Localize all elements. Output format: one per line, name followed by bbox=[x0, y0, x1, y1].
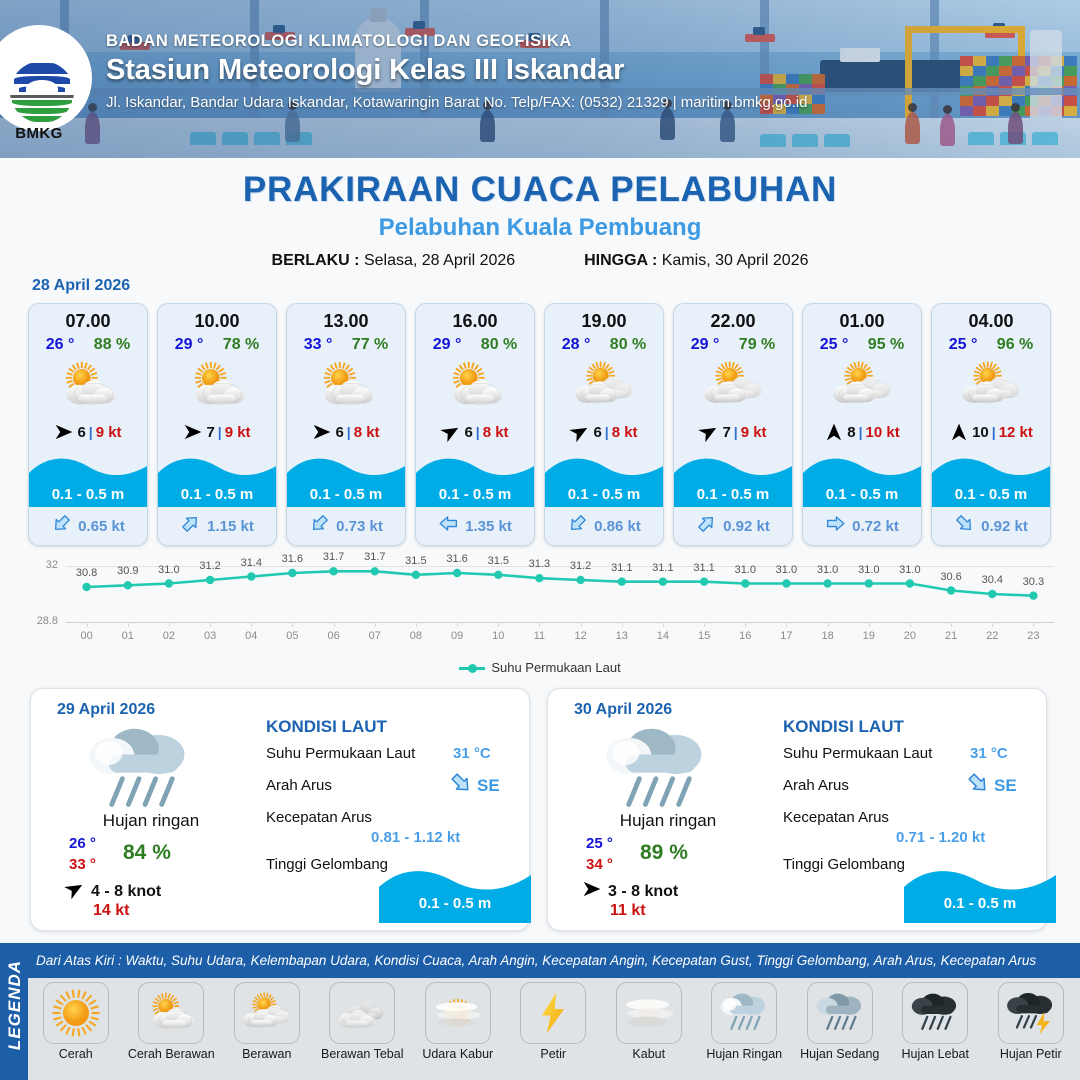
cerah-berawan-icon bbox=[29, 357, 147, 415]
wind-direction-arrow-icon bbox=[824, 422, 844, 442]
card-time: 16.00 bbox=[416, 311, 534, 332]
berawan-icon bbox=[932, 357, 1050, 415]
card-temperature: 28 ° bbox=[562, 336, 591, 354]
hourly-card: 22.00 29 ° 79 % 7 | 9 kt bbox=[673, 303, 793, 546]
current-direction-arrow-icon bbox=[954, 513, 975, 539]
hujan-sedang-icon bbox=[807, 982, 873, 1044]
chart-point-label: 31.1 bbox=[646, 562, 680, 574]
chart-xtick: 14 bbox=[650, 630, 676, 642]
legend-note: Dari Atas Kiri : Waktu, Suhu Udara, Kele… bbox=[36, 953, 1076, 968]
chart-xtick: 05 bbox=[279, 630, 305, 642]
wind-direction-arrow-icon bbox=[582, 879, 602, 904]
card-wind-speed: 6 bbox=[77, 424, 85, 441]
chart-xtick: 15 bbox=[691, 630, 717, 642]
legend-item-label: Hujan Sedang bbox=[792, 1047, 888, 1061]
chart-xtick: 18 bbox=[815, 630, 841, 642]
bmkg-logo-mark bbox=[10, 61, 74, 123]
legend-item-label: Berawan Tebal bbox=[315, 1047, 411, 1061]
daily-humidity: 84 % bbox=[123, 841, 171, 865]
hujan-ringan-icon bbox=[83, 723, 203, 809]
legend-item-label: Udara Kabur bbox=[410, 1047, 506, 1061]
card-wave-height: 0.1 - 0.5 m bbox=[416, 486, 534, 503]
current-direction-label: Arah Arus bbox=[783, 777, 849, 794]
card-gust: 9 kt bbox=[96, 424, 122, 441]
legend-item: Hujan Ringan bbox=[697, 982, 793, 1061]
legend-icon-strip: Cerah Cerah Berawan bbox=[28, 978, 1080, 1080]
validity-to-label: HINGGA : bbox=[584, 252, 657, 269]
chart-xtick: 04 bbox=[238, 630, 264, 642]
wave-height-label: Tinggi Gelombang bbox=[266, 856, 388, 873]
cerah-berawan-icon bbox=[287, 357, 405, 415]
wave-graphic bbox=[904, 861, 1056, 923]
chart-point-label: 31.0 bbox=[728, 564, 762, 576]
legend-item: Petir bbox=[506, 982, 602, 1061]
sst-value: 31 °C bbox=[970, 745, 1008, 762]
card-gust: 12 kt bbox=[999, 424, 1033, 441]
card-wave-height: 0.1 - 0.5 m bbox=[932, 486, 1050, 503]
card-current-speed: 0.73 kt bbox=[336, 518, 383, 535]
bmkg-logo-text: BMKG bbox=[0, 125, 78, 142]
hujan-ringan-icon bbox=[600, 723, 720, 809]
validity-line: BERLAKU : Selasa, 28 April 2026 HINGGA :… bbox=[0, 252, 1080, 270]
card-time: 13.00 bbox=[287, 311, 405, 332]
chart-xtick: 08 bbox=[403, 630, 429, 642]
card-humidity: 78 % bbox=[223, 336, 259, 354]
card-current-speed: 0.86 kt bbox=[594, 518, 641, 535]
legend-item: Hujan Petir bbox=[983, 982, 1079, 1061]
card-temperature: 33 ° bbox=[304, 336, 333, 354]
berawan-icon bbox=[545, 357, 663, 415]
chart-xtick: 12 bbox=[568, 630, 594, 642]
chart-point-label: 31.0 bbox=[852, 564, 886, 576]
card-humidity: 95 % bbox=[868, 336, 904, 354]
current-direction-arrow-icon bbox=[825, 513, 846, 539]
legend-item-label: Berawan bbox=[219, 1047, 315, 1061]
chart-xtick: 19 bbox=[856, 630, 882, 642]
wind-direction-arrow-icon bbox=[570, 422, 590, 442]
card-gust: 9 kt bbox=[741, 424, 767, 441]
hujan-lebat-icon bbox=[902, 982, 968, 1044]
card-time: 04.00 bbox=[932, 311, 1050, 332]
card-separator: | bbox=[347, 424, 351, 440]
chart-xtick: 13 bbox=[609, 630, 635, 642]
card-separator: | bbox=[859, 424, 863, 440]
card-current-speed: 0.92 kt bbox=[723, 518, 770, 535]
current-direction-arrow-icon bbox=[449, 771, 473, 800]
chart-xtick: 20 bbox=[897, 630, 923, 642]
chart-point-label: 31.1 bbox=[605, 562, 639, 574]
validity-from-label: BERLAKU : bbox=[272, 252, 360, 269]
current-direction-arrow-icon bbox=[309, 513, 330, 539]
chart-point-label: 31.6 bbox=[275, 553, 309, 565]
card-wave-height: 0.1 - 0.5 m bbox=[545, 486, 663, 503]
chart-point-label: 30.4 bbox=[975, 574, 1009, 586]
card-humidity: 88 % bbox=[94, 336, 130, 354]
card-gust: 8 kt bbox=[354, 424, 380, 441]
legend-item-label: Hujan Lebat bbox=[888, 1047, 984, 1061]
cerah-berawan-icon bbox=[158, 357, 276, 415]
sst-label: Suhu Permukaan Laut bbox=[266, 745, 415, 762]
card-temperature: 29 ° bbox=[175, 336, 204, 354]
card-separator: | bbox=[218, 424, 222, 440]
daily-gust: 11 kt bbox=[610, 902, 646, 920]
card-temperature: 25 ° bbox=[820, 336, 849, 354]
card-temperature: 26 ° bbox=[46, 336, 75, 354]
daily-date: 30 April 2026 bbox=[574, 701, 672, 719]
card-wind-speed: 7 bbox=[722, 424, 730, 441]
daily-gust: 14 kt bbox=[93, 902, 129, 920]
card-gust: 10 kt bbox=[866, 424, 900, 441]
hujan-petir-icon bbox=[998, 982, 1064, 1044]
card-wind-speed: 6 bbox=[464, 424, 472, 441]
wind-direction-arrow-icon bbox=[183, 422, 203, 442]
card-gust: 8 kt bbox=[483, 424, 509, 441]
sst-value: 31 °C bbox=[453, 745, 491, 762]
card-wind-speed: 7 bbox=[206, 424, 214, 441]
card-gust: 9 kt bbox=[225, 424, 251, 441]
chart-xtick: 07 bbox=[362, 630, 388, 642]
chart-xtick: 16 bbox=[732, 630, 758, 642]
chart-point-label: 31.4 bbox=[234, 557, 268, 569]
daily-temp-max: 33 ° bbox=[69, 856, 96, 873]
daily-forecast-panel: 29 April 2026 Hujan ringan 26 ° 33 ° 84 … bbox=[30, 688, 530, 931]
hourly-card: 13.00 33 ° 77 % 6 | 8 kt bbox=[286, 303, 406, 546]
wind-direction-arrow-icon bbox=[312, 422, 332, 442]
daily-condition: Hujan ringan bbox=[41, 811, 261, 831]
current-speed-label: Kecepatan Arus bbox=[783, 809, 889, 826]
legend-item-label: Petir bbox=[506, 1047, 602, 1061]
legend-item: Berawan Tebal bbox=[315, 982, 411, 1061]
hourly-card: 04.00 25 ° 96 % 10 | 12 kt bbox=[931, 303, 1051, 546]
sst-label: Suhu Permukaan Laut bbox=[783, 745, 932, 762]
card-wind-speed: 10 bbox=[972, 424, 989, 441]
chart-point-label: 31.7 bbox=[358, 551, 392, 563]
chart-xtick: 01 bbox=[115, 630, 141, 642]
daily-date: 29 April 2026 bbox=[57, 701, 155, 719]
hourly-card: 10.00 29 ° 78 % 7 | 9 kt bbox=[157, 303, 277, 546]
card-wind-speed: 6 bbox=[593, 424, 601, 441]
card-humidity: 80 % bbox=[481, 336, 517, 354]
card-humidity: 96 % bbox=[997, 336, 1033, 354]
station-address: Jl. Iskandar, Bandar Udara Iskandar, Kot… bbox=[106, 94, 1006, 111]
station-name: Stasiun Meteorologi Kelas III Iskandar bbox=[106, 54, 1006, 87]
card-current-speed: 0.72 kt bbox=[852, 518, 899, 535]
berawan-tebal-icon bbox=[329, 982, 395, 1044]
wave-graphic bbox=[379, 861, 531, 923]
chart-point-label: 30.8 bbox=[70, 567, 104, 579]
chart-point-label: 30.6 bbox=[934, 571, 968, 583]
cerah-berawan-icon bbox=[416, 357, 534, 415]
chart-xtick: 23 bbox=[1020, 630, 1046, 642]
chart-legend-swatch bbox=[459, 667, 485, 670]
chart-point-label: 30.3 bbox=[1016, 576, 1050, 588]
wind-direction-arrow-icon bbox=[949, 422, 969, 442]
card-temperature: 25 ° bbox=[949, 336, 978, 354]
day-label: 28 April 2026 bbox=[32, 277, 130, 295]
card-separator: | bbox=[992, 424, 996, 440]
legend-item: Berawan bbox=[219, 982, 315, 1061]
card-time: 10.00 bbox=[158, 311, 276, 332]
card-time: 22.00 bbox=[674, 311, 792, 332]
chart-point-label: 31.0 bbox=[811, 564, 845, 576]
berawan-icon bbox=[674, 357, 792, 415]
daily-wind-range: 3 - 8 knot bbox=[608, 883, 678, 901]
chart-legend-label: Suhu Permukaan Laut bbox=[491, 660, 620, 675]
wave-height-label: Tinggi Gelombang bbox=[783, 856, 905, 873]
chart-point-label: 31.2 bbox=[193, 560, 227, 572]
card-time: 01.00 bbox=[803, 311, 921, 332]
chart-point-label: 30.9 bbox=[111, 565, 145, 577]
card-separator: | bbox=[476, 424, 480, 440]
card-current-speed: 0.92 kt bbox=[981, 518, 1028, 535]
daily-wind-range: 4 - 8 knot bbox=[91, 883, 161, 901]
validity-from-value: Selasa, 28 April 2026 bbox=[364, 252, 515, 269]
daily-temp-min: 25 ° bbox=[586, 835, 613, 852]
hourly-card: 01.00 25 ° 95 % 8 | 10 kt bbox=[802, 303, 922, 546]
card-current-speed: 0.65 kt bbox=[78, 518, 125, 535]
chart-point-label: 31.0 bbox=[769, 564, 803, 576]
chart-xtick: 06 bbox=[321, 630, 347, 642]
card-wind-speed: 6 bbox=[335, 424, 343, 441]
hourly-forecast-cards: 07.00 26 ° 88 % 6 | 9 kt bbox=[28, 303, 1054, 546]
legend-item-label: Hujan Ringan bbox=[697, 1047, 793, 1061]
chart-xtick: 02 bbox=[156, 630, 182, 642]
berawan-icon bbox=[234, 982, 300, 1044]
chart-point-label: 31.2 bbox=[564, 560, 598, 572]
cerah-icon bbox=[43, 982, 109, 1044]
kabut-icon bbox=[616, 982, 682, 1044]
udara-kabur-icon bbox=[425, 982, 491, 1044]
page-title: PRAKIRAAN CUACA PELABUHAN bbox=[0, 170, 1080, 210]
chart-xtick: 09 bbox=[444, 630, 470, 642]
header-text-block: BADAN METEOROLOGI KLIMATOLOGI DAN GEOFIS… bbox=[106, 32, 1006, 111]
card-wave-height: 0.1 - 0.5 m bbox=[29, 486, 147, 503]
cerah-berawan-icon bbox=[138, 982, 204, 1044]
card-time: 07.00 bbox=[29, 311, 147, 332]
berawan-icon bbox=[803, 357, 921, 415]
chart-point-label: 31.6 bbox=[440, 553, 474, 565]
chart-legend: Suhu Permukaan Laut bbox=[0, 660, 1080, 675]
wind-direction-arrow-icon bbox=[699, 422, 719, 442]
current-direction-arrow-icon bbox=[438, 513, 459, 539]
hourly-card: 19.00 28 ° 80 % 6 | 8 kt bbox=[544, 303, 664, 546]
chart-xtick: 10 bbox=[485, 630, 511, 642]
sst-chart: 3228.8 30.80030.90131.00231.20331.40431.… bbox=[28, 556, 1054, 654]
card-wind-speed: 8 bbox=[847, 424, 855, 441]
daily-temp-max: 34 ° bbox=[586, 856, 613, 873]
chart-point-label: 31.1 bbox=[687, 562, 721, 574]
legend-sidebar-title: LEGENDA bbox=[5, 948, 25, 1062]
legend-item-label: Kabut bbox=[601, 1047, 697, 1061]
chart-point-label: 31.3 bbox=[522, 558, 556, 570]
card-gust: 8 kt bbox=[612, 424, 638, 441]
hujan-ringan-icon bbox=[711, 982, 777, 1044]
current-direction-arrow-icon bbox=[567, 513, 588, 539]
daily-forecast-panel: 30 April 2026 Hujan ringan 25 ° 34 ° 89 … bbox=[547, 688, 1047, 931]
wind-direction-arrow-icon bbox=[441, 422, 461, 442]
legend-item: Cerah Berawan bbox=[124, 982, 220, 1061]
chart-xtick: 17 bbox=[773, 630, 799, 642]
card-wave-height: 0.1 - 0.5 m bbox=[287, 486, 405, 503]
current-direction-arrow-icon bbox=[696, 513, 717, 539]
agency-name: BADAN METEOROLOGI KLIMATOLOGI DAN GEOFIS… bbox=[106, 32, 1006, 51]
legend-item: Cerah bbox=[28, 982, 124, 1061]
page-subtitle: Pelabuhan Kuala Pembuang bbox=[0, 214, 1080, 242]
legend-item-label: Hujan Petir bbox=[983, 1047, 1079, 1061]
validity-to-value: Kamis, 30 April 2026 bbox=[662, 252, 809, 269]
current-direction-arrow-icon bbox=[51, 513, 72, 539]
legend-item: Udara Kabur bbox=[410, 982, 506, 1061]
current-direction-arrow-icon bbox=[180, 513, 201, 539]
card-humidity: 77 % bbox=[352, 336, 388, 354]
sea-condition-title: KONDISI LAUT bbox=[783, 717, 904, 737]
card-humidity: 80 % bbox=[610, 336, 646, 354]
legend-item: Kabut bbox=[601, 982, 697, 1061]
card-wave-height: 0.1 - 0.5 m bbox=[803, 486, 921, 503]
chart-point-label: 31.7 bbox=[317, 551, 351, 563]
card-separator: | bbox=[734, 424, 738, 440]
current-direction-arrow-icon bbox=[966, 771, 990, 800]
card-current-speed: 1.15 kt bbox=[207, 518, 254, 535]
chart-point-label: 31.5 bbox=[481, 555, 515, 567]
header-banner: BMKG BADAN METEOROLOGI KLIMATOLOGI DAN G… bbox=[0, 0, 1080, 158]
chart-point-label: 31.0 bbox=[152, 564, 186, 576]
legend-item: Hujan Sedang bbox=[792, 982, 888, 1061]
hourly-card: 07.00 26 ° 88 % 6 | 9 kt bbox=[28, 303, 148, 546]
chart-xtick: 21 bbox=[938, 630, 964, 642]
current-speed-value: 0.71 - 1.20 kt bbox=[896, 829, 985, 846]
card-separator: | bbox=[605, 424, 609, 440]
current-direction-label: Arah Arus bbox=[266, 777, 332, 794]
current-direction-value: SE bbox=[966, 771, 1017, 800]
chart-point-label: 31.0 bbox=[893, 564, 927, 576]
current-speed-value: 0.81 - 1.12 kt bbox=[371, 829, 460, 846]
card-temperature: 29 ° bbox=[433, 336, 462, 354]
card-wave-height: 0.1 - 0.5 m bbox=[674, 486, 792, 503]
petir-icon bbox=[520, 982, 586, 1044]
sea-condition-title: KONDISI LAUT bbox=[266, 717, 387, 737]
card-time: 19.00 bbox=[545, 311, 663, 332]
current-direction-value: SE bbox=[449, 771, 500, 800]
chart-xtick: 22 bbox=[979, 630, 1005, 642]
daily-condition: Hujan ringan bbox=[558, 811, 778, 831]
current-speed-label: Kecepatan Arus bbox=[266, 809, 372, 826]
chart-xtick: 00 bbox=[74, 630, 100, 642]
hourly-card: 16.00 29 ° 80 % 6 | 8 kt bbox=[415, 303, 535, 546]
card-temperature: 29 ° bbox=[691, 336, 720, 354]
daily-humidity: 89 % bbox=[640, 841, 688, 865]
card-humidity: 79 % bbox=[739, 336, 775, 354]
chart-xtick: 03 bbox=[197, 630, 223, 642]
wind-direction-arrow-icon bbox=[54, 422, 74, 442]
card-separator: | bbox=[89, 424, 93, 440]
card-current-speed: 1.35 kt bbox=[465, 518, 512, 535]
card-wave-height: 0.1 - 0.5 m bbox=[158, 486, 276, 503]
legend-item: Hujan Lebat bbox=[888, 982, 984, 1061]
daily-temp-min: 26 ° bbox=[69, 835, 96, 852]
legend-item-label: Cerah Berawan bbox=[124, 1047, 220, 1061]
daily-wave-height: 0.1 - 0.5 m bbox=[379, 895, 531, 912]
chart-xtick: 11 bbox=[526, 630, 552, 642]
legend-item-label: Cerah bbox=[28, 1047, 124, 1061]
legend-sidebar: LEGENDA bbox=[0, 943, 28, 1080]
chart-point-label: 31.5 bbox=[399, 555, 433, 567]
daily-wave-height: 0.1 - 0.5 m bbox=[904, 895, 1056, 912]
wind-direction-arrow-icon bbox=[65, 879, 85, 904]
